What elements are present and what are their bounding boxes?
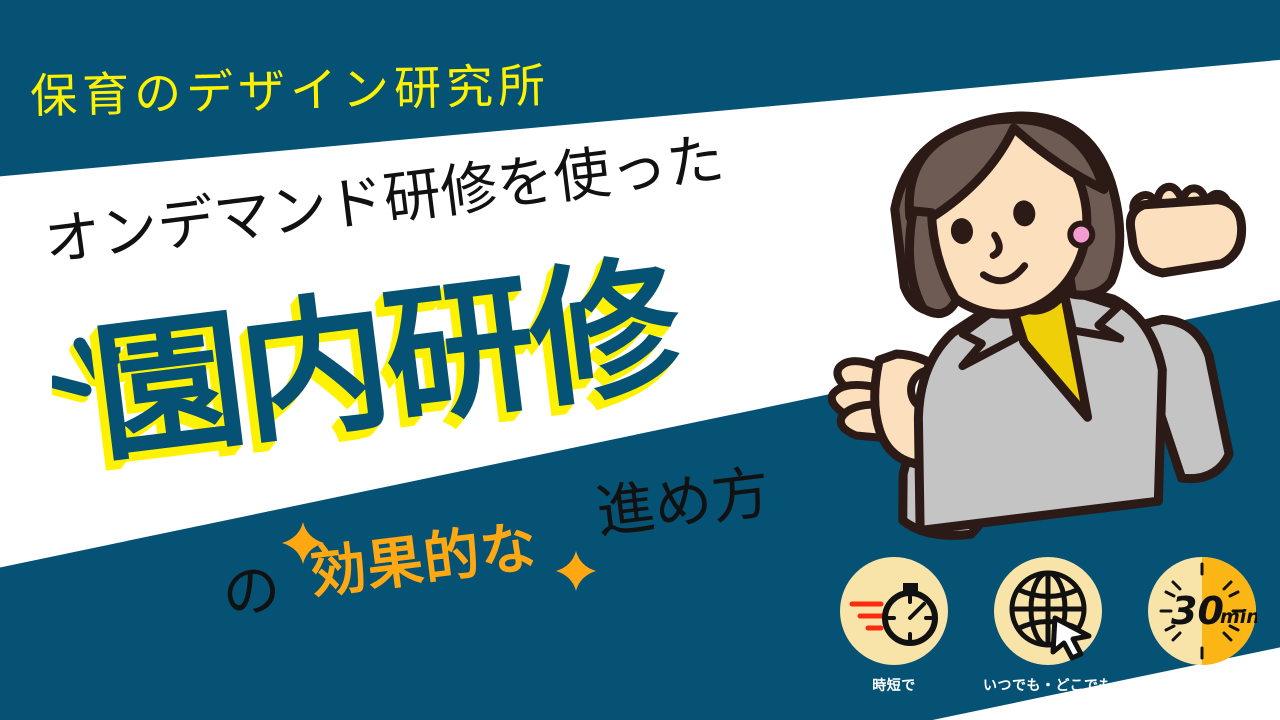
raised-fist-gesture: [1126, 179, 1246, 277]
timer-30min-icon: 30 min: [1147, 556, 1257, 666]
stopwatch-icon: [839, 556, 949, 666]
slide-canvas: 保育のデザイン研究所: [0, 0, 1280, 720]
headline-text: 園内研修: [87, 251, 685, 471]
woman-presenter-illustration: [776, 86, 1276, 566]
brand-logo-text: 保育のデザイン研究所: [29, 47, 550, 127]
badge-item-anytime-anywhere: いつでも・どこでも: [982, 556, 1114, 706]
sparkle-star-right-icon: [556, 551, 596, 591]
headline-wrapper: 園内研修: [87, 251, 685, 471]
particle-no-text: の: [217, 541, 285, 631]
badge-label: 時短で: [872, 675, 916, 695]
badge-item-time-saving: 時短で: [828, 556, 960, 706]
globe-cursor-icon: [993, 556, 1103, 666]
feature-badges: 時短で いつでも・どこでも: [828, 556, 1268, 706]
svg-text:min: min: [1220, 606, 1257, 628]
badge-label: いつでも・どこでも: [983, 675, 1113, 695]
badge-label: 1 本 30 分前後: [1150, 675, 1255, 695]
svg-text:30: 30: [1171, 589, 1224, 633]
badge-item-30min: 30 min 1 本 30 分前後: [1136, 556, 1268, 706]
